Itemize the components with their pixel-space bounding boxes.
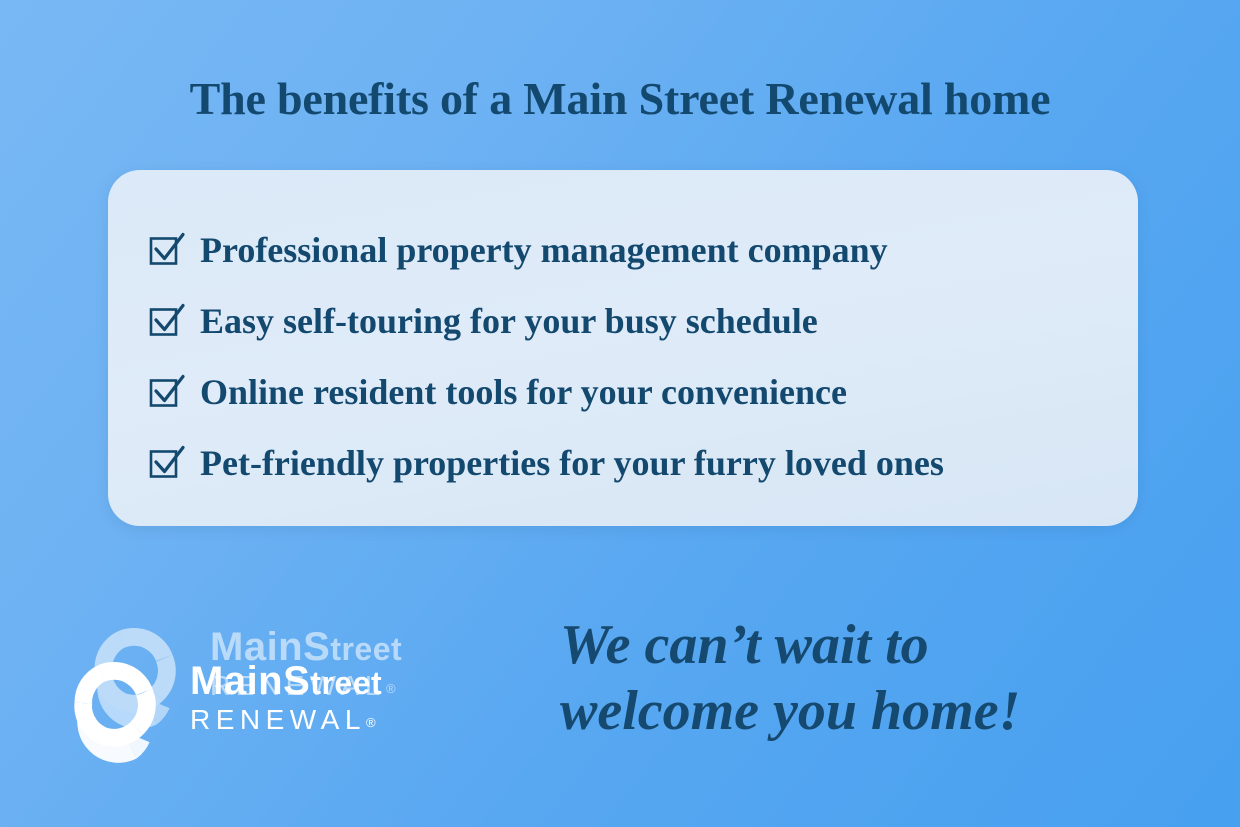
tagline: We can’t wait to welcome you home! — [560, 612, 1200, 744]
benefits-card: Professional property management company… — [108, 170, 1138, 526]
brand-wordmark-line1: MainStreet — [190, 659, 382, 703]
ballot-box-with-check-icon — [148, 374, 184, 410]
brand-wordmark: MainStreet RENEWAL® — [190, 660, 520, 739]
list-item: Easy self-touring for your busy schedule — [148, 285, 1098, 356]
ballot-box-with-check-icon — [148, 232, 184, 268]
list-item-label: Online resident tools for your convenien… — [200, 372, 847, 412]
list-item-label: Pet-friendly properties for your furry l… — [200, 443, 944, 483]
wordmark-renewal: RENEWAL — [190, 704, 366, 735]
mainstreet-renewal-swirl-mark-icon — [48, 652, 180, 784]
poster-canvas: The benefits of a Main Street Renewal ho… — [0, 0, 1240, 827]
brand-wordmark-line2: RENEWAL® — [190, 704, 376, 735]
wordmark-street-cap: S — [283, 659, 310, 703]
list-item-label: Easy self-touring for your busy schedule — [200, 301, 818, 341]
registered-trademark-icon: ® — [366, 715, 376, 730]
tagline-line-2: welcome you home! — [560, 678, 1200, 744]
list-item: Professional property management company — [148, 214, 1098, 285]
wordmark-main: Main — [190, 659, 283, 703]
list-item: Pet-friendly properties for your furry l… — [148, 427, 1098, 498]
ballot-box-with-check-icon — [148, 303, 184, 339]
list-item-label: Professional property management company — [200, 230, 888, 270]
tagline-line-1: We can’t wait to — [560, 612, 1200, 678]
brand-logo-main-copy: MainStreet RENEWAL® — [48, 644, 518, 804]
list-item: Online resident tools for your convenien… — [148, 356, 1098, 427]
wordmark-street-rest: treet — [310, 665, 382, 701]
ballot-box-with-check-icon — [148, 445, 184, 481]
page-title: The benefits of a Main Street Renewal ho… — [0, 72, 1240, 125]
brand-logo: MainStreet RENEWAL® — [48, 622, 548, 802]
